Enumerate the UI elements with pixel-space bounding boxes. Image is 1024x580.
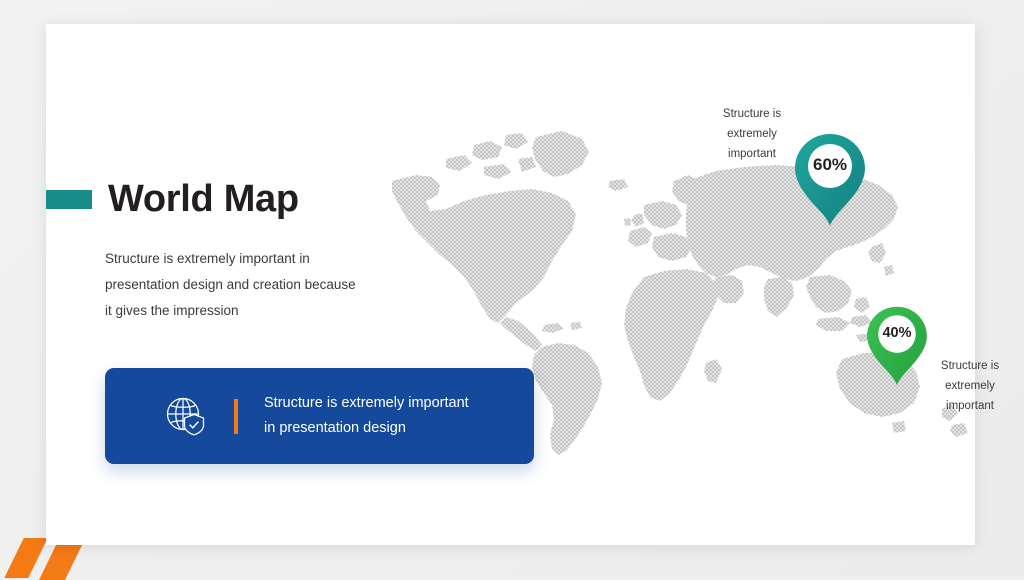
orange-slash-small [4, 538, 48, 578]
pin-label-green-line2: extremely [922, 376, 1018, 396]
highlight-callout-box[interactable]: Structure is extremely important in pres… [105, 368, 534, 464]
pin-label-green-line1: Structure is [922, 356, 1018, 376]
map-pin-green[interactable]: 40% [866, 305, 928, 387]
pin-label-teal-line3: important [704, 144, 800, 164]
highlight-divider [234, 399, 238, 434]
pin-label-teal: Structure is extremely important [704, 104, 800, 164]
pin-label-teal-line1: Structure is [704, 104, 800, 124]
pin-label-green: Structure is extremely important [922, 356, 1018, 416]
slide-card: 60% Structure is extremely important 40%… [46, 24, 975, 545]
title-accent-bar [46, 190, 92, 209]
highlight-text-line1: Structure is extremely important [264, 391, 469, 416]
pin-label-green-line3: important [922, 396, 1018, 416]
highlight-text-line2: in presentation design [264, 416, 469, 441]
highlight-text: Structure is extremely important in pres… [264, 391, 469, 441]
body-paragraph: Structure is extremely important in pres… [105, 246, 365, 324]
map-pin-teal[interactable]: 60% [794, 132, 866, 228]
page-title-row: World Map [46, 180, 299, 218]
page-title: World Map [108, 180, 299, 218]
globe-shield-icon [163, 394, 207, 438]
pin-label-teal-line2: extremely [704, 124, 800, 144]
